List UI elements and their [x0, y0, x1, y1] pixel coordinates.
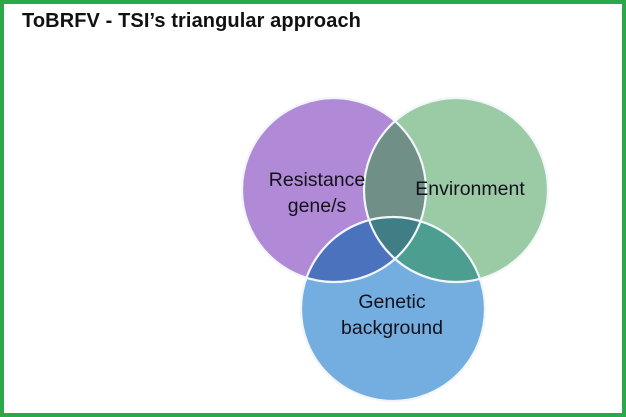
- label-genetic-background-line2: background: [341, 317, 443, 339]
- venn-svg: Resistance gene/s Environment Genetic ba…: [4, 4, 626, 417]
- label-environment: Environment: [415, 178, 525, 200]
- label-resistance-genes-line2: gene/s: [288, 195, 347, 217]
- venn-diagram: Resistance gene/s Environment Genetic ba…: [4, 4, 626, 417]
- slide-canvas: ToBRFV - TSI’s triangular approach: [0, 0, 626, 417]
- label-resistance-genes-line1: Resistance: [269, 169, 365, 191]
- label-genetic-background-line1: Genetic: [358, 291, 425, 313]
